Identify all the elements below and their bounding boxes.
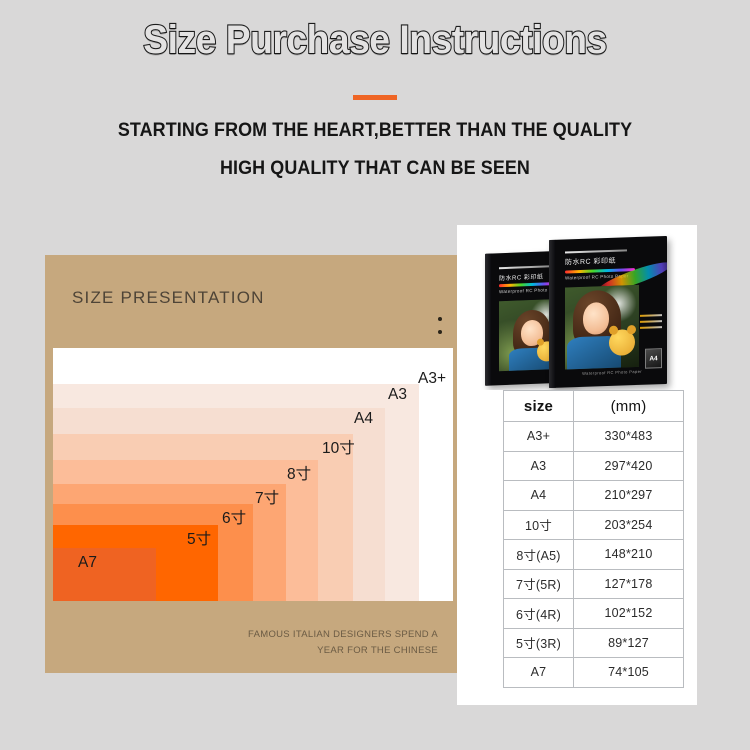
- cell-size-name: A3: [504, 451, 574, 481]
- header-cell-size: size: [504, 391, 574, 422]
- package-bullet: [640, 320, 662, 323]
- cell-size-mm: 74*105: [574, 658, 684, 688]
- cell-size-name: 7寸(5R): [504, 569, 574, 599]
- cell-size-mm: 127*178: [574, 569, 684, 599]
- size-rect-label: 8寸: [287, 462, 311, 484]
- table-row: 6寸(4R)102*152: [504, 599, 684, 629]
- size-rect-label: 6寸: [222, 506, 246, 528]
- package-feature-bullets: [640, 314, 662, 329]
- table-row: A3297*420: [504, 451, 684, 481]
- size-rect-label: A4: [354, 410, 373, 428]
- title-divider: [353, 95, 397, 100]
- cover-face: [583, 302, 609, 335]
- size-table: size(mm)A3+330*483A3297*420A4210*29710寸2…: [503, 390, 684, 688]
- cell-size-name: A7: [504, 658, 574, 688]
- cell-size-mm: 89*127: [574, 628, 684, 658]
- table-row: A3+330*483: [504, 422, 684, 452]
- package-bullet: [640, 314, 662, 317]
- cell-size-name: A4: [504, 481, 574, 511]
- cell-size-mm: 102*152: [574, 599, 684, 629]
- package-brand-line: [499, 265, 551, 269]
- panel-dots-decoration: [438, 317, 442, 334]
- package-spine: [549, 240, 556, 388]
- size-rect-label: 5寸: [187, 527, 211, 549]
- cell-size-mm: 203*254: [574, 510, 684, 540]
- package-front: 防水RC 彩印纸 Waterproof RC Photo Paper A4 Wa…: [549, 236, 667, 388]
- subtitle-primary: STARTING FROM THE HEART,BETTER THAN THE …: [30, 119, 720, 142]
- size-rect-label: A3: [388, 386, 407, 404]
- package-footer-text: Waterproof RC Photo Paper: [563, 368, 661, 381]
- page-title: Size Purchase Instructions: [26, 18, 724, 63]
- package-spine: [485, 253, 492, 385]
- package-cover-image: [565, 285, 639, 370]
- cell-size-mm: 297*420: [574, 451, 684, 481]
- panel-caption: FAMOUS ITALIAN DESIGNERS SPEND A YEAR FO…: [188, 627, 438, 659]
- cell-size-name: 8寸(A5): [504, 540, 574, 570]
- cell-size-mm: 330*483: [574, 422, 684, 452]
- panel-caption-line-2: YEAR FOR THE CHINESE: [317, 645, 438, 656]
- size-rect: [53, 548, 156, 601]
- size-panel-title: SIZE PRESENTATION: [72, 288, 265, 308]
- size-table-body: size(mm)A3+330*483A3297*420A4210*29710寸2…: [504, 391, 684, 688]
- package-brand-text: 防水RC 彩印纸: [565, 256, 616, 268]
- size-rect-label: A7: [78, 554, 97, 572]
- cell-size-name: 10寸: [504, 510, 574, 540]
- cell-size-name: 5寸(3R): [504, 628, 574, 658]
- package-brand-line: [565, 249, 627, 253]
- size-comparison-diagram: A3+A3A410寸8寸7寸6寸5寸A7: [53, 348, 453, 601]
- header-cell-mm: (mm): [574, 391, 684, 422]
- cell-size-name: A3+: [504, 422, 574, 452]
- panel-dot: [438, 330, 442, 334]
- panel-caption-line-1: FAMOUS ITALIAN DESIGNERS SPEND A: [248, 629, 438, 640]
- size-rect-label: A3+: [418, 370, 446, 388]
- cell-size-mm: 210*297: [574, 481, 684, 511]
- table-row: 5寸(3R)89*127: [504, 628, 684, 658]
- size-presentation-panel: SIZE PRESENTATION A3+A3A410寸8寸7寸6寸5寸A7 F…: [45, 255, 460, 673]
- table-row: 10寸203*254: [504, 510, 684, 540]
- table-row: A4210*297: [504, 481, 684, 511]
- package-brand-text: 防水RC 彩印纸: [499, 272, 543, 283]
- info-panel: 防水RC 彩印纸 Waterproof RC Photo Paper 防水RC …: [457, 225, 697, 705]
- size-rect-label: 10寸: [322, 436, 355, 458]
- product-package-photo: 防水RC 彩印纸 Waterproof RC Photo Paper 防水RC …: [467, 230, 687, 390]
- package-bullet: [640, 326, 662, 329]
- table-row: A774*105: [504, 658, 684, 688]
- table-row: 8寸(A5)148*210: [504, 540, 684, 570]
- cell-size-mm: 148*210: [574, 540, 684, 570]
- cell-size-name: 6寸(4R): [504, 599, 574, 629]
- size-rect-label: 7寸: [255, 486, 279, 508]
- panel-dot: [438, 317, 442, 321]
- header: Size Purchase Instructions STARTING FROM…: [0, 0, 750, 200]
- table-header-row: size(mm): [504, 391, 684, 422]
- package-size-badge: A4: [645, 348, 662, 369]
- table-row: 7寸(5R)127*178: [504, 569, 684, 599]
- subtitle-secondary: HIGH QUALITY THAT CAN BE SEEN: [30, 157, 720, 180]
